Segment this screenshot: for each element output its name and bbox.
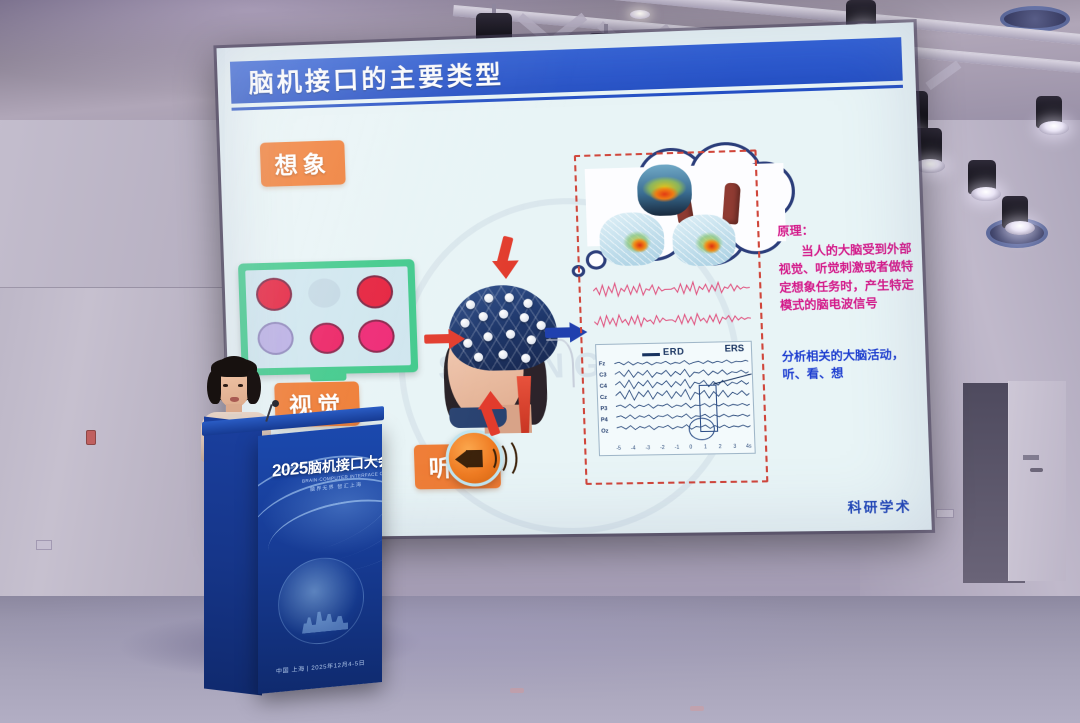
channel-label: C3 xyxy=(599,372,607,378)
brain-scan-icon xyxy=(636,164,692,217)
channel-label: Fz xyxy=(599,361,606,367)
channel-label: Oz xyxy=(601,428,609,434)
podium-footer: 中国 上海 | 2025年12月4-5日 xyxy=(276,658,365,676)
erd-ers-chart: ERD Fz C3 C4 Cz P3 P4 Oz xyxy=(595,341,756,456)
channel-label: Cz xyxy=(600,395,607,401)
eeg-waveform-trace xyxy=(593,277,750,301)
stage-light xyxy=(968,160,996,194)
floor-marker xyxy=(510,688,524,693)
x-tick: -4 xyxy=(631,445,636,451)
monitor-stand xyxy=(310,374,347,382)
fire-alarm-icon xyxy=(86,430,96,445)
ers-label: ERS xyxy=(724,343,744,354)
podium-front-panel: 2025脑机接口大会 BRAIN-COMPUTER INTERFACE CONF… xyxy=(258,424,382,694)
eeg-cable xyxy=(546,338,575,387)
floor-marker xyxy=(690,706,704,711)
x-tick: 0 xyxy=(689,444,692,450)
podium-side-panel xyxy=(204,416,262,695)
principle-heading: 原理： xyxy=(777,219,916,239)
x-tick: 1 xyxy=(704,444,707,450)
podium-year: 2025 xyxy=(272,458,308,480)
slide-title: 脑机接口的主要类型 xyxy=(248,55,505,100)
stage-light xyxy=(1002,196,1028,228)
conference-hall-photo: SHANGHAI 脑机接口的主要类型 想象 xyxy=(0,0,1080,723)
slide-title-bar: 脑机接口的主要类型 xyxy=(230,37,903,104)
x-tick: -3 xyxy=(645,445,650,451)
door-sign xyxy=(1023,455,1039,460)
x-tick: -2 xyxy=(660,445,665,451)
erd-legend-line xyxy=(642,353,660,356)
slide-corner-tag: 科研学术 xyxy=(847,496,912,516)
x-tick: 3 xyxy=(733,444,736,450)
wall-socket xyxy=(936,509,954,518)
channel-label: C4 xyxy=(600,384,608,390)
principle-body: 当人的大脑受到外部视觉、听觉刺激或者做特定想象任务时，产生特定模式的脑电波信号 xyxy=(778,241,919,316)
eeg-waveform-trace xyxy=(594,308,751,332)
eeg-subject-photo xyxy=(439,277,576,432)
ceiling-downlight xyxy=(630,10,650,19)
erd-label: ERD xyxy=(663,346,685,357)
exit-door[interactable] xyxy=(1008,381,1066,581)
wall-socket xyxy=(36,540,52,550)
analysis-panel: ERD Fz C3 C4 Cz P3 P4 Oz xyxy=(574,149,769,485)
x-tick: -1 xyxy=(675,445,680,451)
microphone-icon xyxy=(272,400,279,407)
x-tick: 2 xyxy=(719,444,722,450)
brain-scan-icon xyxy=(599,212,665,267)
stage-light xyxy=(1036,96,1062,128)
door-handle[interactable] xyxy=(1030,468,1043,472)
x-tick: -5 xyxy=(616,446,621,452)
x-tick: 4s xyxy=(746,444,752,450)
brain-scan-icon xyxy=(672,214,737,267)
label-imagination: 想象 xyxy=(260,140,346,187)
principle-conclusion: 分析相关的大脑活动，听、看、想 xyxy=(782,346,922,385)
principle-text-block: 原理： 当人的大脑受到外部视觉、听觉刺激或者做特定想象任务时，产生特定模式的脑电… xyxy=(777,219,921,385)
channel-label: P4 xyxy=(601,417,608,423)
channel-label: P3 xyxy=(600,406,607,412)
